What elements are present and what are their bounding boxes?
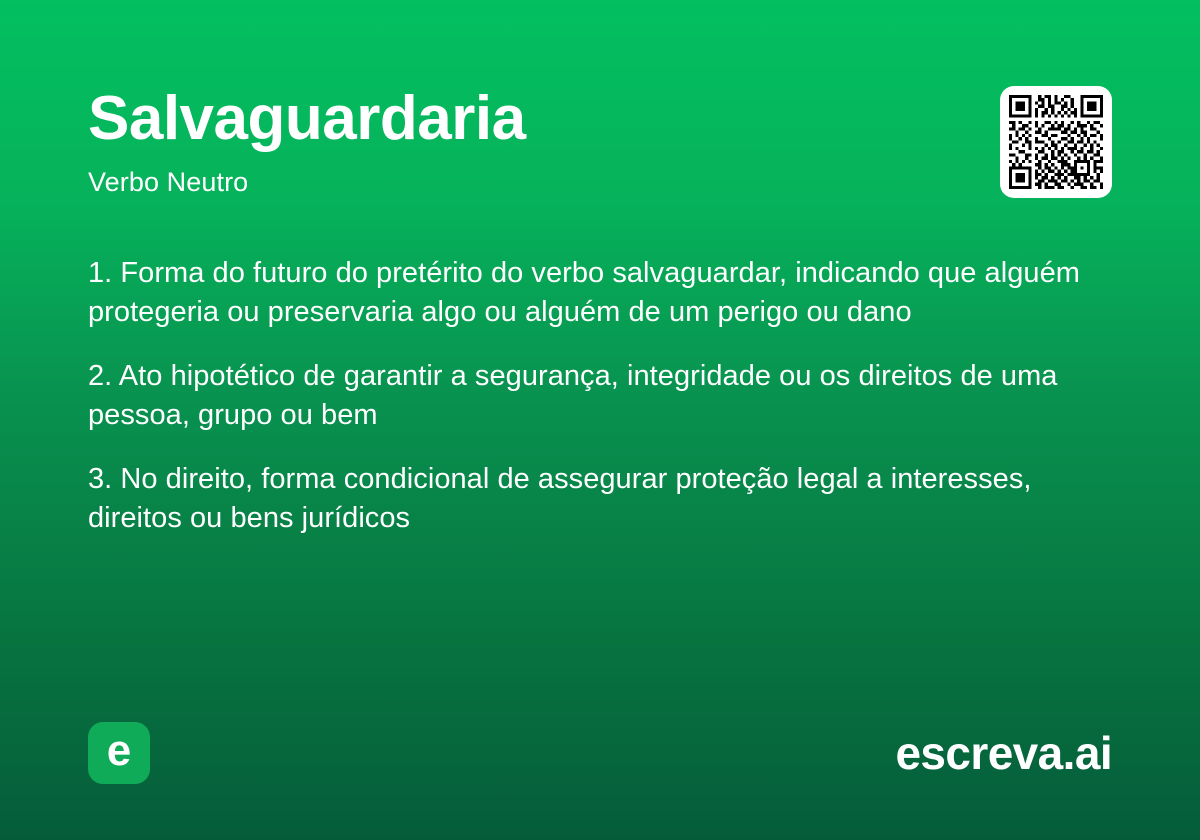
word-class-label: Verbo Neutro	[88, 168, 526, 198]
card-header: Salvaguardaria Verbo Neutro	[88, 86, 1112, 198]
qr-code-icon[interactable]	[1000, 86, 1112, 198]
card-footer: e escreva.ai	[88, 722, 1112, 784]
definition-item-2: 2. Ato hipotético de garantir a seguranç…	[88, 357, 1112, 434]
definition-item-1: 1. Forma do futuro do pretérito do verbo…	[88, 254, 1112, 331]
page-title: Salvaguardaria	[88, 88, 526, 150]
definition-item-3: 3. No direito, forma condicional de asse…	[88, 460, 1112, 537]
definition-card: Salvaguardaria Verbo Neutro	[0, 0, 1200, 840]
brand-logo-letter: e	[107, 729, 131, 773]
heading-group: Salvaguardaria Verbo Neutro	[88, 86, 526, 198]
brand-logo-icon[interactable]: e	[88, 722, 150, 784]
brand-wordmark: escreva.ai	[895, 730, 1112, 776]
definition-list: 1. Forma do futuro do pretérito do verbo…	[88, 254, 1112, 537]
